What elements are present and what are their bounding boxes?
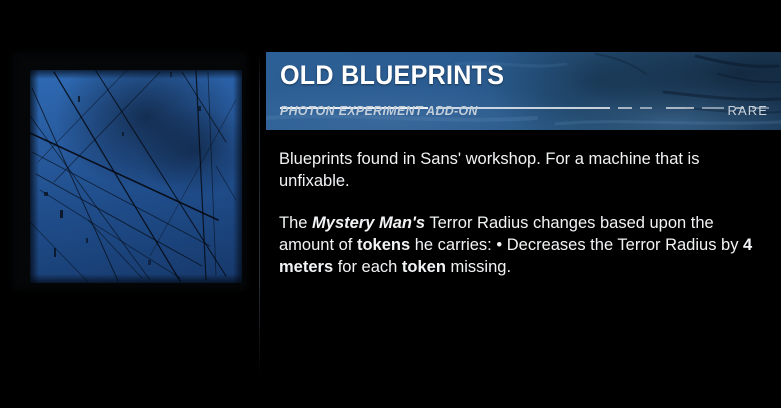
effect-character-name: Mystery Man's <box>312 214 425 232</box>
flavor-text: Blueprints found in Sans' workshop. For … <box>279 148 757 192</box>
item-tooltip-card: OLD BLUEPRINTS PHOTON EXPERIMENT A <box>0 0 781 408</box>
effect-intro-a: The <box>279 214 312 232</box>
item-rarity-badge: RARE <box>727 103 768 118</box>
panel-divider <box>259 52 260 378</box>
flavor-text-content: Blueprints found in Sans' workshop. For … <box>279 150 699 190</box>
blueprint-scratches-icon <box>30 70 242 283</box>
item-category: PHOTON EXPERIMENT ADD-ON <box>280 103 478 118</box>
old-blueprints-icon <box>30 70 242 283</box>
item-icon-panel <box>0 40 252 302</box>
effect-text: The Mystery Man's Terror Radius changes … <box>279 212 757 278</box>
item-name: OLD BLUEPRINTS <box>280 60 504 91</box>
item-header-banner: OLD BLUEPRINTS PHOTON EXPERIMENT A <box>266 52 781 130</box>
item-description: Blueprints found in Sans' workshop. For … <box>279 148 757 278</box>
effect-token-keyword: tokens <box>357 236 410 254</box>
effect-intro-c: he carries: <box>410 236 492 254</box>
item-icon-frame <box>8 48 251 294</box>
effect-bullet-c: missing. <box>446 258 511 276</box>
effect-bullet-a: • Decreases the Terror Radius by <box>496 236 743 254</box>
banner-divider-rule <box>280 96 769 98</box>
effect-bullet-b: for each <box>333 258 402 276</box>
effect-value-token: token <box>402 258 446 276</box>
